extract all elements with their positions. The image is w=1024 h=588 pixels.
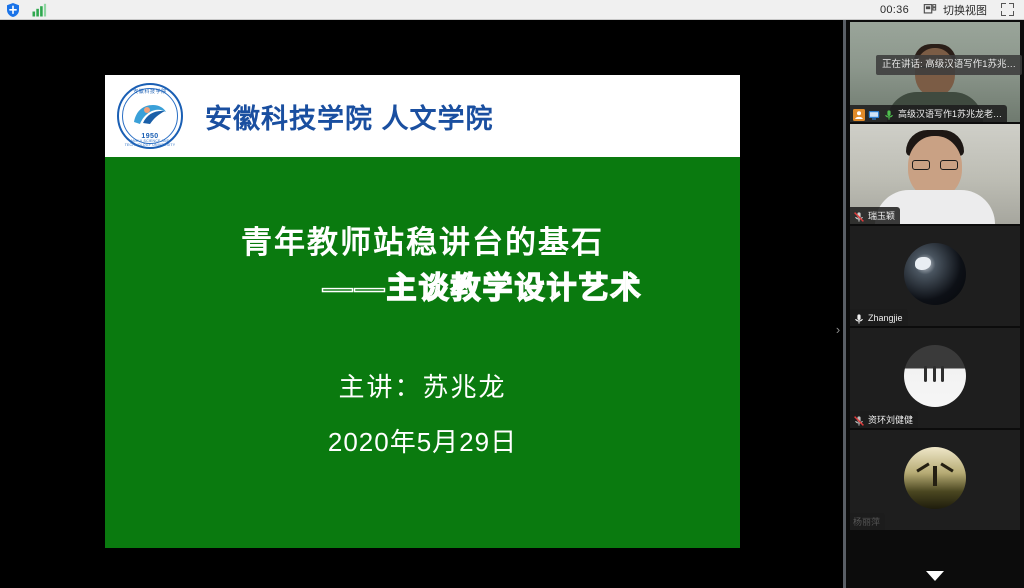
- switch-view-button[interactable]: 切换视图: [923, 2, 987, 18]
- chevron-down-icon: [926, 571, 944, 581]
- participant-name: 杨丽萍: [853, 515, 880, 528]
- logo-bird-mark: [131, 101, 169, 127]
- shield-icon[interactable]: [5, 2, 21, 18]
- meeting-timer: 00:36: [880, 4, 909, 16]
- participant-name: 瑞玉颖: [868, 209, 895, 222]
- host-icon: [853, 108, 865, 120]
- toolbar-right-group: 00:36 切换视图: [880, 2, 1024, 18]
- mic-muted-icon: [853, 414, 865, 426]
- presentation-slide: 安徽科技学院 1950 ANHUI SCIENCE AND TECHNOLOGY…: [105, 75, 740, 548]
- mic-on-icon: [853, 312, 865, 324]
- participant-thumbnail[interactable]: 瑞玉颖: [850, 124, 1020, 224]
- slide-subtitle: ——主谈教学设计艺术: [105, 263, 740, 307]
- participant-name: 资环刘健健: [868, 413, 913, 426]
- switch-view-label: 切换视图: [943, 2, 987, 18]
- top-toolbar: 00:36 切换视图: [0, 0, 1024, 20]
- meeting-window: 00:36 切换视图: [0, 0, 1024, 588]
- scroll-down-button[interactable]: [846, 567, 1024, 585]
- fullscreen-icon[interactable]: [1001, 3, 1014, 16]
- mic-muted-icon: [853, 210, 865, 222]
- screen-share-icon: [868, 108, 880, 120]
- speaking-tooltip: 正在讲话: 高级汉语写作1苏兆…: [876, 55, 1022, 75]
- toolbar-left-icons: [0, 2, 47, 18]
- avatar: [904, 243, 966, 305]
- signal-bars-icon[interactable]: [31, 2, 47, 18]
- slide-header: 安徽科技学院 1950 ANHUI SCIENCE AND TECHNOLOGY…: [105, 75, 740, 157]
- avatar: [904, 447, 966, 509]
- participant-video-sidebar: 正在讲话: 高级汉语写作1苏兆…: [846, 20, 1024, 588]
- avatar: [904, 345, 966, 407]
- slide-date: 2020年5月29日: [105, 422, 740, 459]
- participant-thumbnail[interactable]: Zhangjie: [850, 226, 1020, 326]
- participant-thumbnail[interactable]: 资环刘健健: [850, 328, 1020, 428]
- participant-thumbnail[interactable]: 杨丽萍: [850, 430, 1020, 530]
- logo-arc-top-text: 安徽科技学院: [117, 88, 183, 95]
- shared-screen-stage[interactable]: 安徽科技学院 1950 ANHUI SCIENCE AND TECHNOLOGY…: [0, 20, 846, 588]
- logo-arc-bottom-text: ANHUI SCIENCE AND TECHNOLOGY UNIVERSITY: [117, 139, 183, 147]
- switch-view-icon: [923, 2, 939, 18]
- slide-main-title: 青年教师站稳讲台的基石: [105, 217, 740, 262]
- mic-on-icon: [883, 108, 895, 120]
- participant-name: 高级汉语写作1苏兆龙老…: [898, 107, 1002, 120]
- participant-name-bar: 资环刘健健: [850, 411, 918, 428]
- participant-name: Zhangjie: [868, 313, 903, 323]
- participant-name-bar: 瑞玉颖: [850, 207, 900, 224]
- participant-name-bar: Zhangjie: [850, 309, 908, 326]
- slide-presenter: 主讲：苏兆龙: [105, 367, 740, 404]
- participant-name-bar: 高级汉语写作1苏兆龙老…: [850, 105, 1007, 122]
- university-logo-icon: 安徽科技学院 1950 ANHUI SCIENCE AND TECHNOLOGY…: [117, 83, 183, 149]
- slide-body: 青年教师站稳讲台的基石 ——主谈教学设计艺术 主讲：苏兆龙 2020年5月29日: [105, 157, 740, 548]
- slide-header-title: 安徽科技学院 人文学院: [205, 97, 494, 136]
- participant-name-bar: 杨丽萍: [850, 513, 885, 530]
